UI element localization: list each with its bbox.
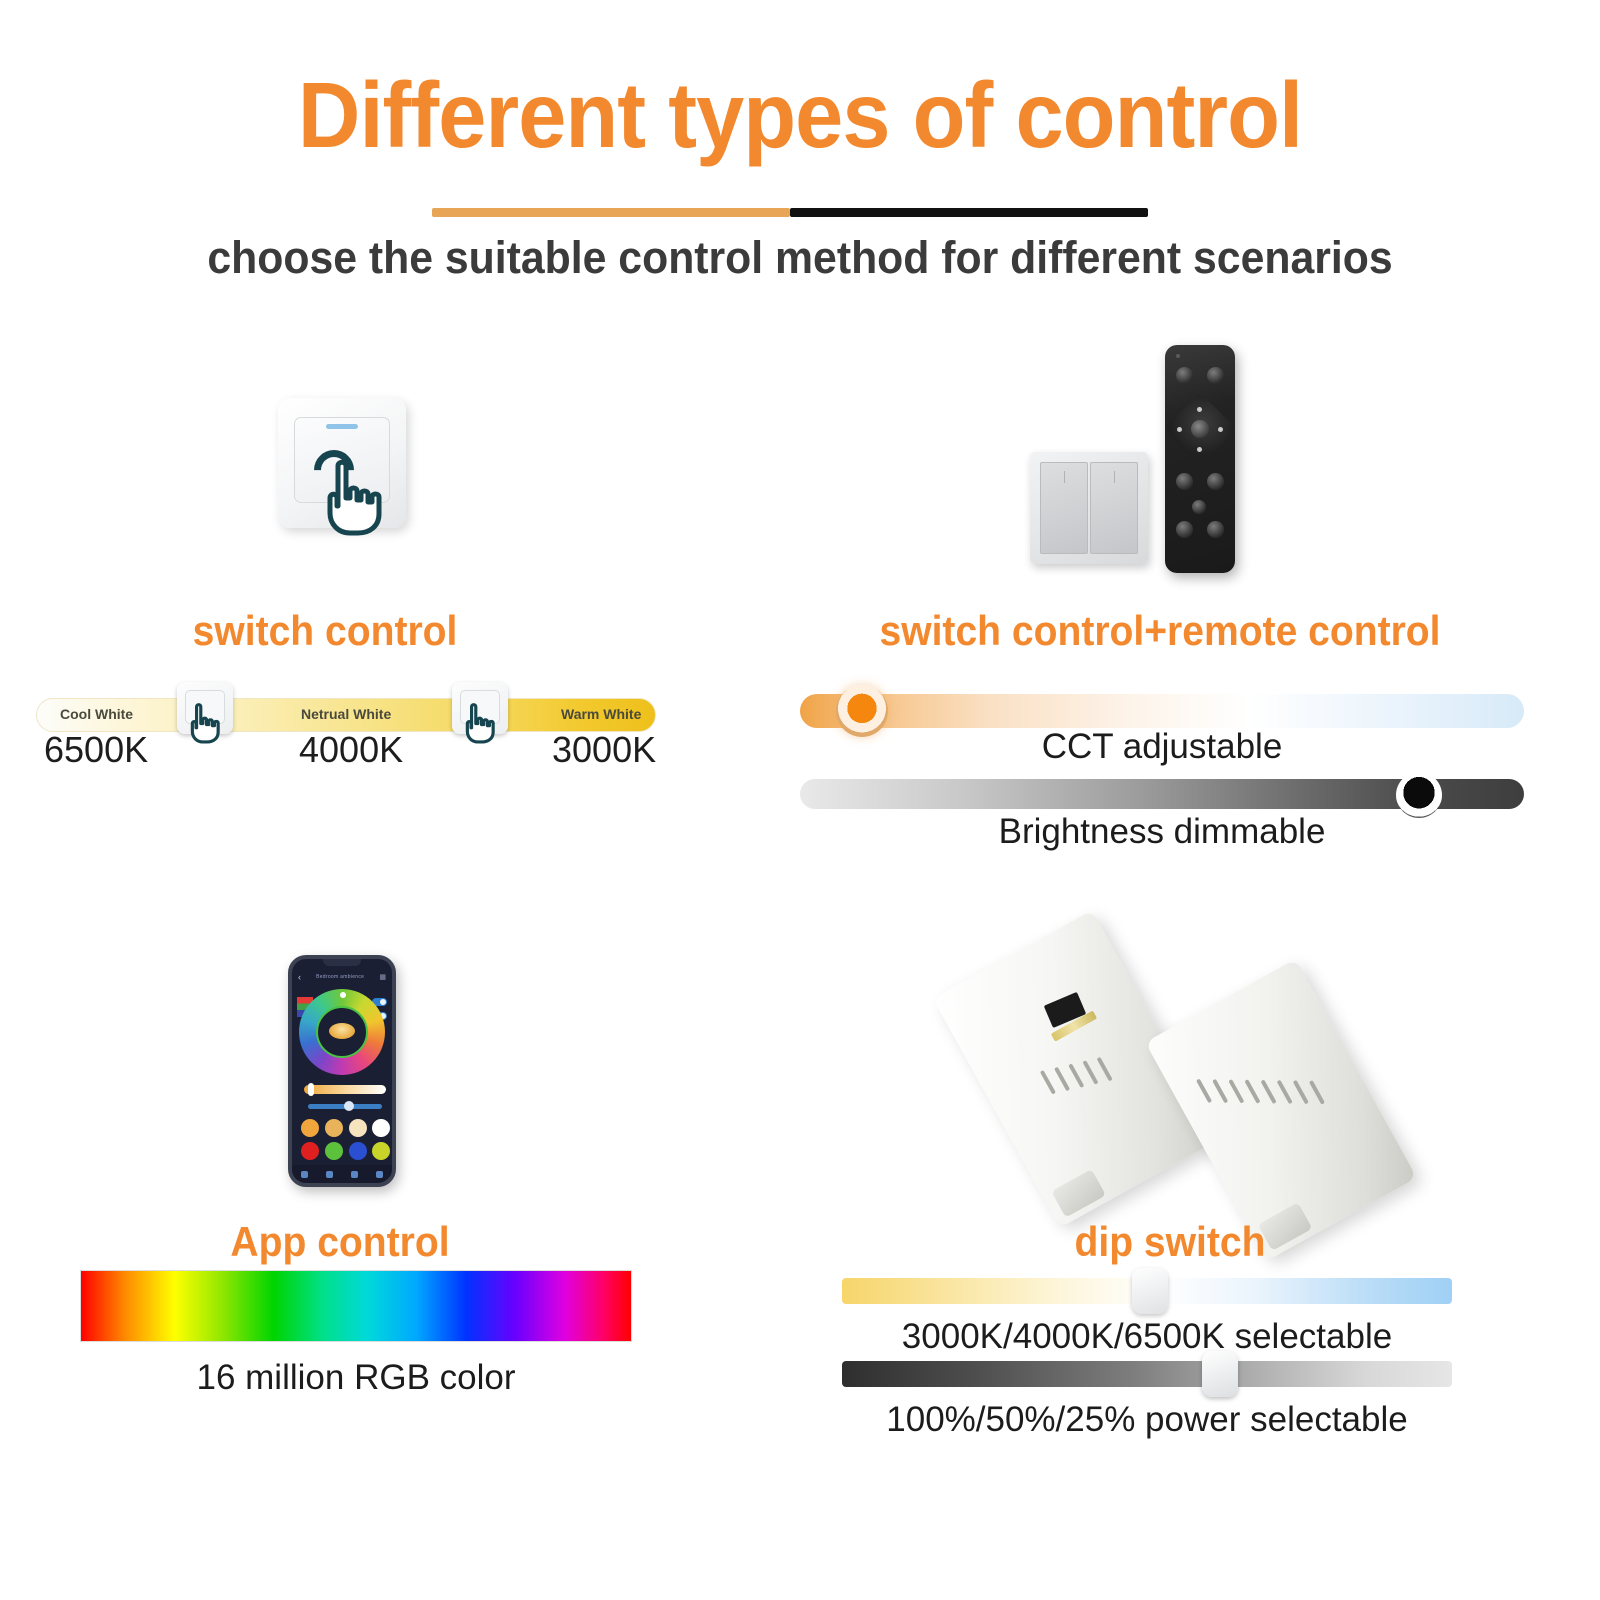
kelvin-label-6500: 6500K bbox=[44, 729, 148, 771]
app-cct-slider-knob[interactable] bbox=[308, 1083, 314, 1096]
phone-notch bbox=[323, 959, 361, 966]
remote-mode-button bbox=[1176, 473, 1193, 490]
dip-power-slider-knob[interactable] bbox=[1202, 1351, 1238, 1397]
cct-zone-warm-label: Warm White bbox=[561, 706, 641, 722]
led-driver-back-icon bbox=[1145, 959, 1417, 1261]
remote-control-icon bbox=[1165, 345, 1235, 573]
tab-icon-white[interactable] bbox=[326, 1171, 333, 1178]
vent-slot bbox=[1082, 1060, 1098, 1085]
switch-led-indicator bbox=[326, 424, 358, 429]
section-label-switch-remote-control: switch control+remote control bbox=[853, 607, 1467, 655]
smartphone-app-icon: ‹ Bedroom ambience ▦ bbox=[288, 955, 396, 1187]
section-label-dip-switch: dip switch bbox=[975, 1218, 1366, 1266]
vent-slot bbox=[1293, 1080, 1309, 1105]
app-cct-slider[interactable] bbox=[304, 1085, 386, 1094]
vent-slot bbox=[1261, 1079, 1277, 1104]
rgb-spectrum-bar[interactable] bbox=[80, 1270, 632, 1342]
remote-dim-button bbox=[1207, 521, 1224, 538]
color-swatch[interactable] bbox=[325, 1142, 343, 1160]
page-title: Different types of control bbox=[56, 62, 1544, 169]
divider-orange-segment bbox=[432, 208, 790, 217]
vent-slot bbox=[1277, 1080, 1293, 1105]
remote-power-button bbox=[1207, 367, 1224, 384]
caption-power-selectable: 100%/50%/25% power selectable bbox=[842, 1400, 1452, 1440]
app-header: ‹ Bedroom ambience ▦ bbox=[292, 970, 392, 984]
infographic-page: Different types of control choose the su… bbox=[0, 0, 1600, 1600]
caption-brightness-dimmable: Brightness dimmable bbox=[800, 812, 1524, 852]
color-swatch[interactable] bbox=[372, 1119, 390, 1137]
color-swatch[interactable] bbox=[349, 1142, 367, 1160]
vent-slot bbox=[1068, 1063, 1084, 1088]
tab-icon-scene[interactable] bbox=[351, 1171, 358, 1178]
dpad-down-icon bbox=[1197, 447, 1202, 452]
driver-cable-lip bbox=[1051, 1169, 1106, 1218]
dpad-ok-button bbox=[1191, 420, 1209, 438]
color-wheel-center-preview bbox=[329, 1023, 355, 1039]
remote-settings-button bbox=[1176, 367, 1193, 384]
section-label-switch-control: switch control bbox=[153, 607, 497, 655]
hand-pointer-icon bbox=[185, 702, 225, 744]
title-divider bbox=[432, 208, 1148, 217]
caption-kelvin-selectable: 3000K/4000K/6500K selectable bbox=[842, 1317, 1452, 1357]
hand-pointer-icon bbox=[460, 702, 500, 744]
dip-cct-slider-knob[interactable] bbox=[1132, 1268, 1168, 1314]
color-swatch[interactable] bbox=[325, 1119, 343, 1137]
tab-icon-settings[interactable] bbox=[376, 1171, 383, 1178]
dip-power-slider-track[interactable] bbox=[842, 1361, 1452, 1387]
vent-slot bbox=[1244, 1079, 1260, 1104]
vent-slot bbox=[1228, 1079, 1244, 1104]
vent-slot bbox=[1097, 1057, 1113, 1082]
color-swatch[interactable] bbox=[301, 1142, 319, 1160]
app-brightness-slider-knob[interactable] bbox=[344, 1101, 354, 1111]
menu-icon[interactable]: ▦ bbox=[379, 973, 386, 981]
back-chevron-icon[interactable]: ‹ bbox=[298, 973, 301, 982]
vent-slot bbox=[1309, 1080, 1325, 1105]
kelvin-label-3000: 3000K bbox=[552, 729, 656, 771]
remote-timer-button bbox=[1176, 521, 1193, 538]
cct-step-marker-2[interactable] bbox=[452, 682, 508, 742]
dpad-left-icon bbox=[1177, 427, 1182, 432]
dpad-right-icon bbox=[1218, 427, 1223, 432]
wall-switch-icon bbox=[278, 398, 406, 528]
remote-cct-button bbox=[1207, 473, 1224, 490]
caption-rgb-color: 16 million RGB color bbox=[80, 1358, 632, 1398]
vent-slot bbox=[1040, 1070, 1056, 1095]
section-label-app-control: App control bbox=[163, 1218, 516, 1266]
color-wheel-knob[interactable] bbox=[340, 992, 346, 998]
switch-key-right bbox=[1090, 462, 1138, 554]
app-screen-title: Bedroom ambience bbox=[316, 974, 364, 980]
two-gang-wall-switch-icon bbox=[1030, 452, 1148, 564]
cct-step-marker-1[interactable] bbox=[177, 682, 233, 742]
page-subtitle: choose the suitable control method for d… bbox=[40, 232, 1560, 284]
tab-icon-color[interactable] bbox=[301, 1171, 308, 1178]
color-swatch[interactable] bbox=[349, 1119, 367, 1137]
switch-key-left bbox=[1040, 462, 1088, 554]
ir-led-icon bbox=[1176, 354, 1180, 358]
remote-scene-button bbox=[1192, 500, 1206, 514]
cct-zone-cool-label: Cool White bbox=[60, 706, 133, 722]
cct-zone-neutral-label: Netrual White bbox=[301, 706, 391, 722]
color-swatch[interactable] bbox=[372, 1142, 390, 1160]
hand-pointer-icon bbox=[316, 458, 392, 536]
color-swatch[interactable] bbox=[301, 1119, 319, 1137]
cct-adjustable-slider-track[interactable] bbox=[800, 694, 1524, 728]
app-tab-bar bbox=[292, 1165, 392, 1183]
dpad-up-icon bbox=[1197, 407, 1202, 412]
vent-slot bbox=[1196, 1079, 1212, 1104]
caption-cct-adjustable: CCT adjustable bbox=[800, 727, 1524, 767]
vent-slot bbox=[1054, 1067, 1070, 1092]
divider-black-segment bbox=[790, 208, 1148, 217]
kelvin-label-4000: 4000K bbox=[299, 729, 403, 771]
vent-slot bbox=[1212, 1079, 1228, 1104]
